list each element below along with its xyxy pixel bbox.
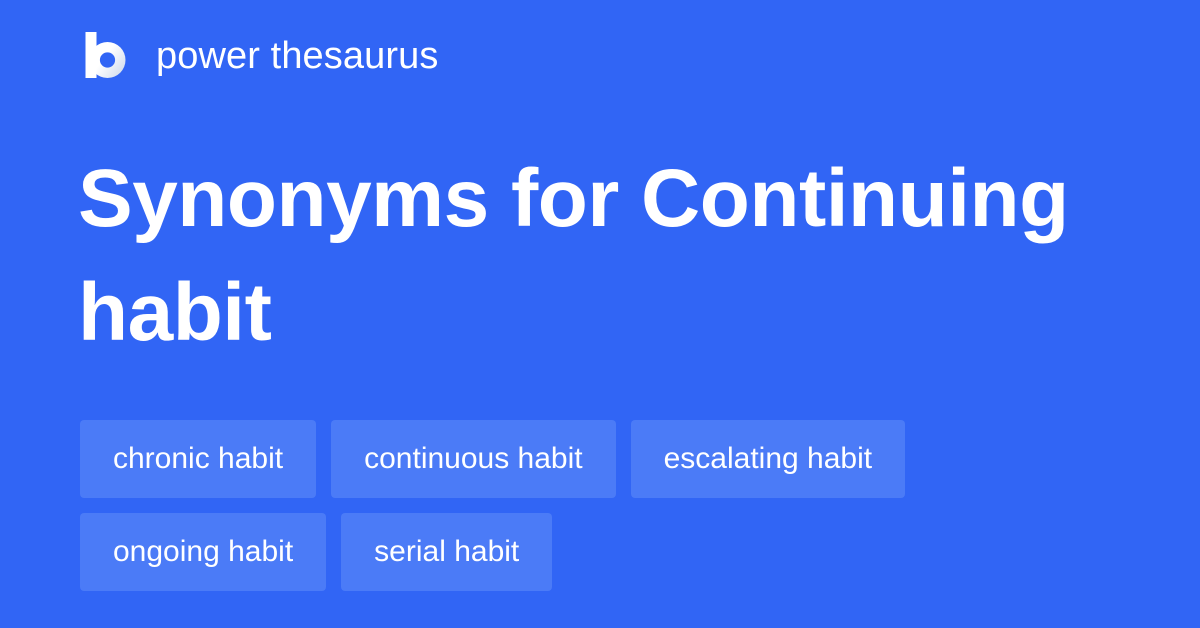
brand-name: power thesaurus: [156, 37, 438, 75]
synonym-chip[interactable]: chronic habit: [80, 420, 316, 498]
page-title: Synonyms for Continuing habit: [78, 142, 1118, 370]
brand-bar[interactable]: power thesaurus: [80, 28, 438, 84]
synonym-chip[interactable]: serial habit: [341, 513, 552, 591]
page-title-line-1: Synonyms for Continuing: [78, 142, 1118, 256]
synonym-chip-list: chronic habit continuous habit escalatin…: [80, 420, 1140, 591]
synonym-chip[interactable]: ongoing habit: [80, 513, 326, 591]
synonym-chip[interactable]: escalating habit: [631, 420, 905, 498]
page-title-line-2: habit: [78, 256, 1118, 370]
power-thesaurus-b-logo-icon: [80, 30, 132, 82]
synonym-chip[interactable]: continuous habit: [331, 420, 616, 498]
synonym-card: power thesaurus Synonyms for Continuing …: [0, 0, 1200, 628]
